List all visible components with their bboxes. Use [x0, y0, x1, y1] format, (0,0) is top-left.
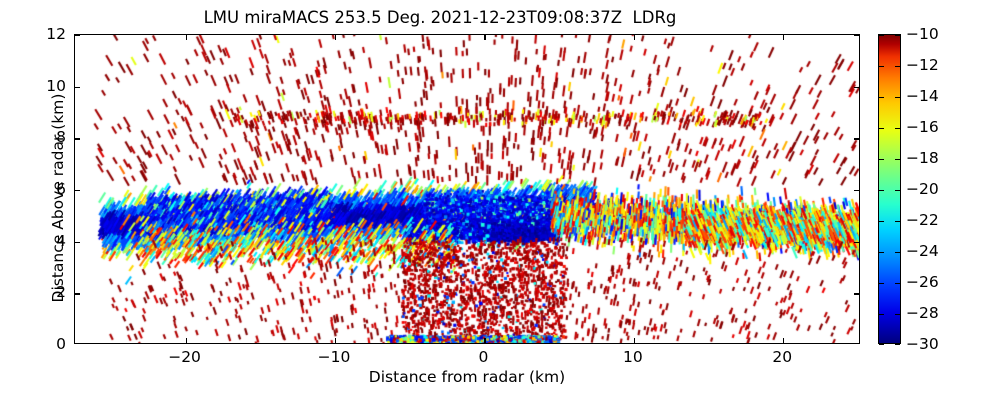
colorbar-tick-mark-right	[895, 314, 900, 315]
radar-scatter-data	[75, 35, 860, 344]
colorbar-tick-mark-right	[895, 344, 900, 345]
y-tick-mark-right	[854, 35, 859, 36]
y-tick-mark	[75, 87, 80, 88]
colorbar-tick-label: −12	[906, 56, 939, 74]
plot-axes	[74, 34, 860, 344]
x-tick-mark	[783, 338, 784, 343]
y-tick-label: 12	[0, 25, 66, 43]
colorbar-tick-label: −28	[906, 304, 939, 322]
colorbar-tick-mark-right	[895, 221, 900, 222]
colorbar-tick-mark	[879, 314, 884, 315]
y-tick-mark-right	[854, 190, 859, 191]
x-tick-mark-top	[484, 35, 485, 40]
colorbar-tick-mark-right	[895, 35, 900, 36]
colorbar-tick-mark-right	[895, 128, 900, 129]
colorbar-tick-mark	[879, 344, 884, 345]
y-tick-mark-right	[854, 293, 859, 294]
x-tick-label: 20	[772, 348, 792, 366]
x-tick-mark-top	[186, 35, 187, 40]
colorbar-tick-mark-right	[895, 159, 900, 160]
x-tick-mark-top	[335, 35, 336, 40]
colorbar-tick-label: −16	[906, 118, 939, 136]
y-tick-mark	[75, 190, 80, 191]
colorbar-tick-label: −18	[906, 149, 939, 167]
colorbar-tick-mark	[879, 252, 884, 253]
colorbar-tick-mark-right	[895, 283, 900, 284]
colorbar-tick-label: −14	[906, 87, 939, 105]
colorbar-tick-label: −10	[906, 25, 939, 43]
colorbar-tick-mark	[879, 66, 884, 67]
y-tick-mark	[75, 242, 80, 243]
y-tick-mark	[75, 293, 80, 294]
radar-rhi-figure: LMU miraMACS 253.5 Deg. 2021-12-23T09:08…	[0, 0, 1000, 400]
x-tick-mark	[484, 338, 485, 343]
x-tick-mark	[335, 338, 336, 343]
colorbar-tick-mark	[879, 159, 884, 160]
y-tick-mark-right	[854, 87, 859, 88]
colorbar-tick-mark	[879, 283, 884, 284]
x-tick-label: −20	[168, 348, 201, 366]
colorbar-tick-label: −22	[906, 211, 939, 229]
colorbar-tick-mark	[879, 97, 884, 98]
y-tick-mark	[75, 35, 80, 36]
x-tick-mark-top	[634, 35, 635, 40]
x-axis-label: Distance from radar (km)	[74, 368, 860, 386]
x-tick-mark	[186, 338, 187, 343]
y-tick-mark-right	[854, 138, 859, 139]
x-tick-label: −10	[318, 348, 351, 366]
colorbar-tick-label: −24	[906, 242, 939, 260]
colorbar-tick-mark	[879, 190, 884, 191]
colorbar-tick-mark	[879, 128, 884, 129]
colorbar-tick-mark-right	[895, 252, 900, 253]
colorbar-tick-mark	[879, 35, 884, 36]
y-tick-mark	[75, 138, 80, 139]
x-tick-mark	[634, 338, 635, 343]
colorbar-tick-mark-right	[895, 190, 900, 191]
page-title: LMU miraMACS 253.5 Deg. 2021-12-23T09:08…	[0, 8, 880, 27]
colorbar-tick-mark	[879, 221, 884, 222]
y-axis-label: Distance Above radar (km)	[49, 43, 67, 353]
x-tick-label: 0	[478, 348, 488, 366]
x-tick-label: 10	[623, 348, 643, 366]
colorbar-tick-label: −20	[906, 180, 939, 198]
colorbar-tick-label: −26	[906, 273, 939, 291]
colorbar-tick-label: −30	[906, 335, 939, 353]
colorbar-tick-mark-right	[895, 66, 900, 67]
y-tick-mark-right	[854, 242, 859, 243]
colorbar-tick-mark-right	[895, 97, 900, 98]
x-tick-mark-top	[783, 35, 784, 40]
colorbar	[878, 34, 901, 344]
